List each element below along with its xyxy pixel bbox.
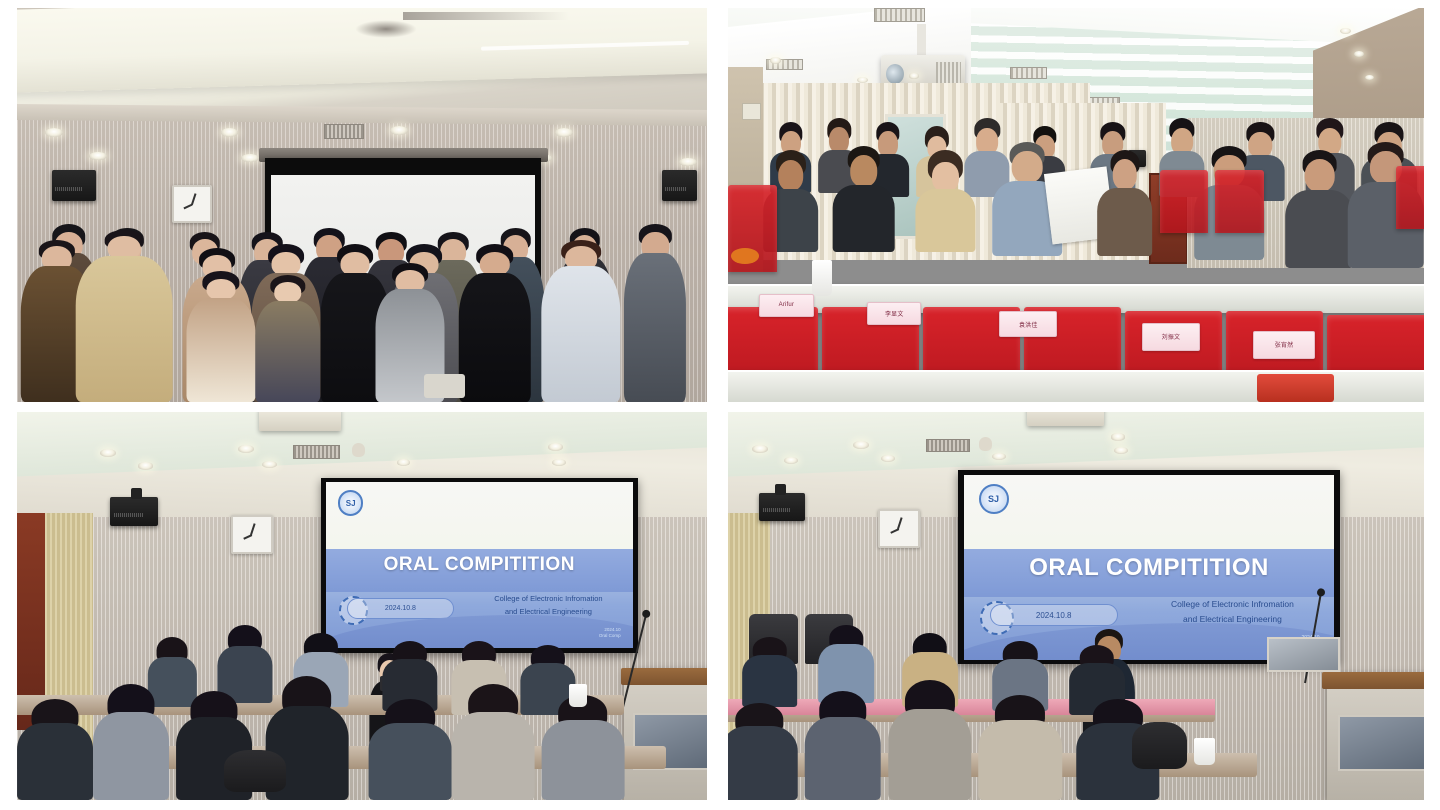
dept-line-1: College of Electronic Infromation — [476, 592, 620, 605]
photo-collage: Arifur 李显文 袁洪佳 刘振文 张宵然 SJ — [0, 0, 1440, 810]
audience-back — [742, 637, 798, 707]
wall-speaker — [662, 170, 697, 202]
slide-date: 2024.10.8 — [347, 598, 453, 618]
speaker-bracket — [131, 488, 142, 500]
wall-clock — [172, 185, 212, 223]
speaker-bracket — [775, 484, 785, 496]
presentation-slide: SJ ORAL COMPITITION 2024.10.8 College of… — [958, 470, 1341, 664]
group-person — [624, 221, 686, 402]
footnote-line-1: 2024.10 — [599, 627, 621, 634]
ceiling-stain-streak — [403, 12, 569, 20]
panel-bottom-left[interactable]: SJ ORAL COMPITITION 2024.10.8 College of… — [17, 412, 707, 800]
downlight — [45, 128, 63, 137]
footnote-line-2: Oral Comp — [599, 633, 621, 640]
audience-back — [93, 684, 169, 800]
judge-nameplate: 袁洪佳 — [999, 311, 1057, 337]
judge-person — [832, 146, 895, 252]
paper-cup — [812, 260, 833, 295]
downlight — [992, 453, 1006, 460]
presentation-slide: SJ ORAL COMPITITION 2024.10.8 College of… — [321, 478, 638, 653]
ceiling-projector — [259, 412, 342, 431]
judge-nameplate: 刘振文 — [1142, 323, 1200, 351]
judge-person — [1285, 150, 1355, 268]
group-person — [186, 268, 255, 402]
group-person — [76, 229, 173, 402]
downlight — [262, 461, 277, 468]
dept-line-1: College of Electronic Infromation — [1145, 597, 1319, 612]
downlight — [552, 459, 566, 466]
panel-top-right[interactable]: Arifur 李显文 袁洪佳 刘振文 张宵然 — [728, 8, 1424, 402]
audience-back — [452, 684, 535, 800]
judge-nameplate: 张宵然 — [1253, 331, 1314, 359]
downlight — [1114, 447, 1128, 454]
audience-back — [369, 699, 452, 800]
slide-department: College of Electronic Infromation and El… — [476, 592, 620, 618]
wall-speaker — [759, 493, 804, 520]
lectern — [624, 668, 707, 800]
downlight — [881, 455, 895, 462]
audience-back — [541, 695, 624, 800]
downlight — [752, 445, 767, 453]
wall-switch-panel — [742, 103, 761, 121]
seat-row-back — [1396, 166, 1424, 229]
paper-cup — [1194, 738, 1215, 765]
downlight — [770, 57, 781, 63]
lectern-monitor — [1267, 637, 1341, 672]
trash-bin — [424, 374, 465, 398]
ceiling-vent — [324, 124, 364, 139]
wall-speaker — [52, 170, 97, 202]
judge-nameplate: Arifur — [759, 294, 813, 318]
slide-footnote: 2024.10 Oral Comp — [599, 627, 621, 641]
downlight — [1340, 28, 1350, 34]
downlight — [909, 73, 919, 79]
audience-back — [728, 703, 798, 800]
downlight — [1111, 433, 1126, 440]
downlight — [555, 128, 573, 137]
slide-date: 2024.10.8 — [990, 604, 1118, 626]
downlight — [784, 457, 799, 464]
audience-back — [17, 699, 93, 800]
wall-speaker — [110, 497, 158, 526]
downlight — [1365, 75, 1374, 80]
downlight — [397, 459, 411, 466]
projector-mount — [917, 24, 925, 59]
ceiling-stain — [355, 20, 417, 38]
downlight — [138, 462, 153, 469]
slide-title: ORAL COMPITITION — [326, 554, 633, 576]
panel-top-left[interactable] — [17, 8, 707, 402]
wall-clock — [878, 509, 920, 548]
ceiling-projector — [1027, 412, 1104, 426]
slide-title: ORAL COMPITITION — [964, 554, 1335, 582]
smoke-detector — [352, 443, 366, 457]
downlight — [238, 445, 254, 453]
audience-back — [979, 695, 1063, 800]
ceiling-vent — [293, 445, 340, 459]
university-logo-icon: SJ — [979, 484, 1009, 514]
red-bag — [1257, 374, 1334, 402]
judge-person — [916, 150, 975, 252]
downlight — [221, 128, 239, 137]
downlight — [1354, 51, 1364, 57]
downlight — [548, 443, 563, 451]
seat-row-back — [1215, 170, 1264, 233]
audience-back — [888, 680, 972, 800]
downlight — [853, 441, 868, 449]
lectern — [1327, 672, 1424, 800]
judge-nameplate: 李显文 — [867, 302, 921, 326]
wall-clock — [231, 515, 273, 554]
backpack — [1132, 722, 1188, 769]
backpack — [224, 750, 286, 793]
group-person — [255, 272, 321, 402]
paper-cup — [569, 684, 587, 707]
downlight — [390, 126, 408, 135]
ceiling-vent — [874, 8, 925, 22]
ceiling-vent — [926, 439, 970, 452]
seat-row-back — [1160, 170, 1209, 233]
group-person — [459, 240, 531, 402]
group-person — [541, 237, 620, 402]
slide-department: College of Electronic Infromation and El… — [1145, 597, 1319, 627]
university-logo-icon: SJ — [338, 490, 364, 516]
audience-back — [805, 691, 882, 800]
ceiling-vent — [1010, 67, 1047, 79]
judge-person — [1097, 150, 1153, 256]
smoke-detector — [979, 437, 993, 451]
panel-bottom-right[interactable]: SJ ORAL COMPITITION 2024.10.8 College of… — [728, 412, 1424, 800]
